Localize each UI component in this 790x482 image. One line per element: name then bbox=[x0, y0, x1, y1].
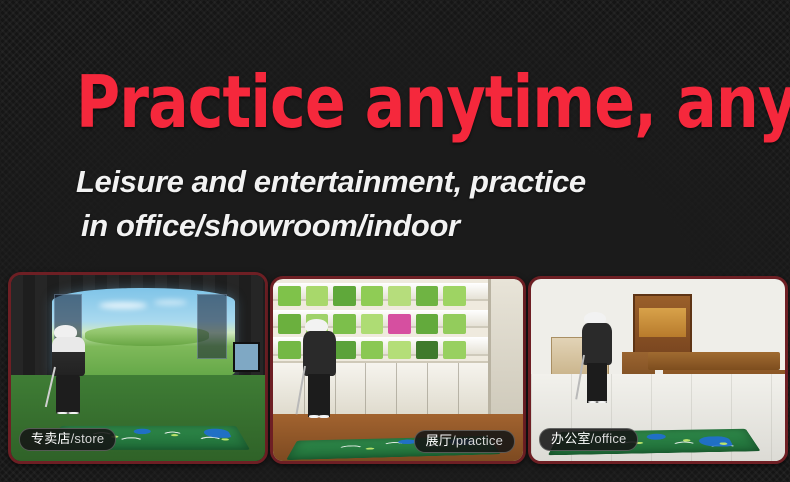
panel-label-practice: 展厅/practice bbox=[414, 430, 515, 453]
shoe-icon bbox=[68, 412, 79, 415]
golfer-figure bbox=[52, 325, 85, 418]
tea-table bbox=[648, 352, 780, 370]
shoe-icon bbox=[319, 415, 329, 418]
side-monitor bbox=[233, 342, 260, 372]
fairway-graphic bbox=[85, 325, 209, 346]
golfer-torso bbox=[52, 337, 85, 376]
cabinet-divider bbox=[365, 363, 366, 418]
golfer-legs bbox=[587, 363, 608, 403]
mat-water-hazard bbox=[697, 437, 733, 448]
turf-sample bbox=[361, 286, 384, 306]
turf-sample bbox=[443, 286, 466, 306]
turf-sample bbox=[416, 286, 439, 306]
shoe-icon bbox=[588, 401, 598, 403]
subtitle-line-1: Leisure and entertainment, practice bbox=[76, 164, 586, 199]
turf-sample bbox=[278, 286, 301, 306]
turf-sample bbox=[333, 341, 356, 359]
turf-sample bbox=[333, 314, 356, 334]
turf-sample bbox=[278, 341, 301, 359]
turf-sample bbox=[361, 314, 384, 334]
golfer-legs bbox=[308, 374, 330, 417]
mat-crease-marking bbox=[671, 442, 699, 451]
page-title: Practice anytime, anywhere bbox=[76, 64, 790, 140]
panel-label-cn: 办公室 bbox=[551, 431, 591, 446]
turf-sample bbox=[416, 314, 439, 334]
turf-sample bbox=[443, 341, 466, 359]
golfer-torso bbox=[582, 323, 612, 365]
cabinet-divider bbox=[427, 363, 428, 418]
cloud-icon bbox=[154, 300, 187, 306]
cloud-icon bbox=[99, 302, 147, 310]
turf-sample bbox=[333, 286, 356, 306]
panel-label-cn: 展厅 bbox=[426, 433, 452, 448]
mat-water-hazard bbox=[133, 429, 150, 434]
mat-crease-marking bbox=[116, 438, 144, 448]
promo-banner: Practice anytime, anywhere Leisure and e… bbox=[0, 0, 790, 482]
turf-sample bbox=[388, 314, 411, 334]
golfer-figure bbox=[303, 319, 336, 421]
panel-label-office: 办公室/office bbox=[539, 428, 638, 451]
cabinet-divider bbox=[458, 363, 459, 418]
panel-label-en: practice bbox=[456, 433, 503, 448]
golfer-legs bbox=[56, 375, 80, 414]
golfer-figure bbox=[582, 312, 612, 407]
turf-sample bbox=[361, 341, 384, 359]
subtitle: Leisure and entertainment, practice in o… bbox=[76, 160, 586, 248]
photo-panel-store[interactable]: 专卖店/store bbox=[8, 272, 268, 464]
shoe-icon bbox=[597, 401, 607, 403]
golfer-torso bbox=[303, 331, 336, 376]
turf-sample bbox=[388, 341, 411, 359]
turf-sample bbox=[416, 341, 439, 359]
turf-sample bbox=[278, 314, 301, 334]
panel-label-cn: 专卖店 bbox=[31, 431, 71, 446]
aquarium-glass bbox=[639, 308, 686, 337]
shoe-icon bbox=[57, 412, 68, 415]
cabinet-divider bbox=[396, 363, 397, 418]
panel-label-store: 专卖店/store bbox=[19, 428, 116, 451]
showroom-side-shelf bbox=[488, 279, 524, 417]
mat-hole bbox=[366, 448, 374, 450]
turf-sample bbox=[443, 314, 466, 334]
mat-crease-marking bbox=[336, 445, 364, 454]
shoe-icon bbox=[309, 415, 319, 418]
photo-panel-practice[interactable]: 展厅/practice bbox=[270, 276, 526, 464]
turf-sample bbox=[306, 286, 329, 306]
panel-label-en: store bbox=[74, 431, 104, 446]
mat-water-hazard bbox=[647, 434, 667, 440]
panel-label-en: office bbox=[594, 431, 626, 446]
photo-panel-office[interactable]: 办公室/office bbox=[528, 276, 788, 464]
subtitle-line-2: in office/showroom/indoor bbox=[76, 204, 586, 248]
aquarium-cabinet bbox=[633, 294, 693, 356]
simulator-hud-right bbox=[197, 294, 227, 359]
turf-sample bbox=[388, 286, 411, 306]
